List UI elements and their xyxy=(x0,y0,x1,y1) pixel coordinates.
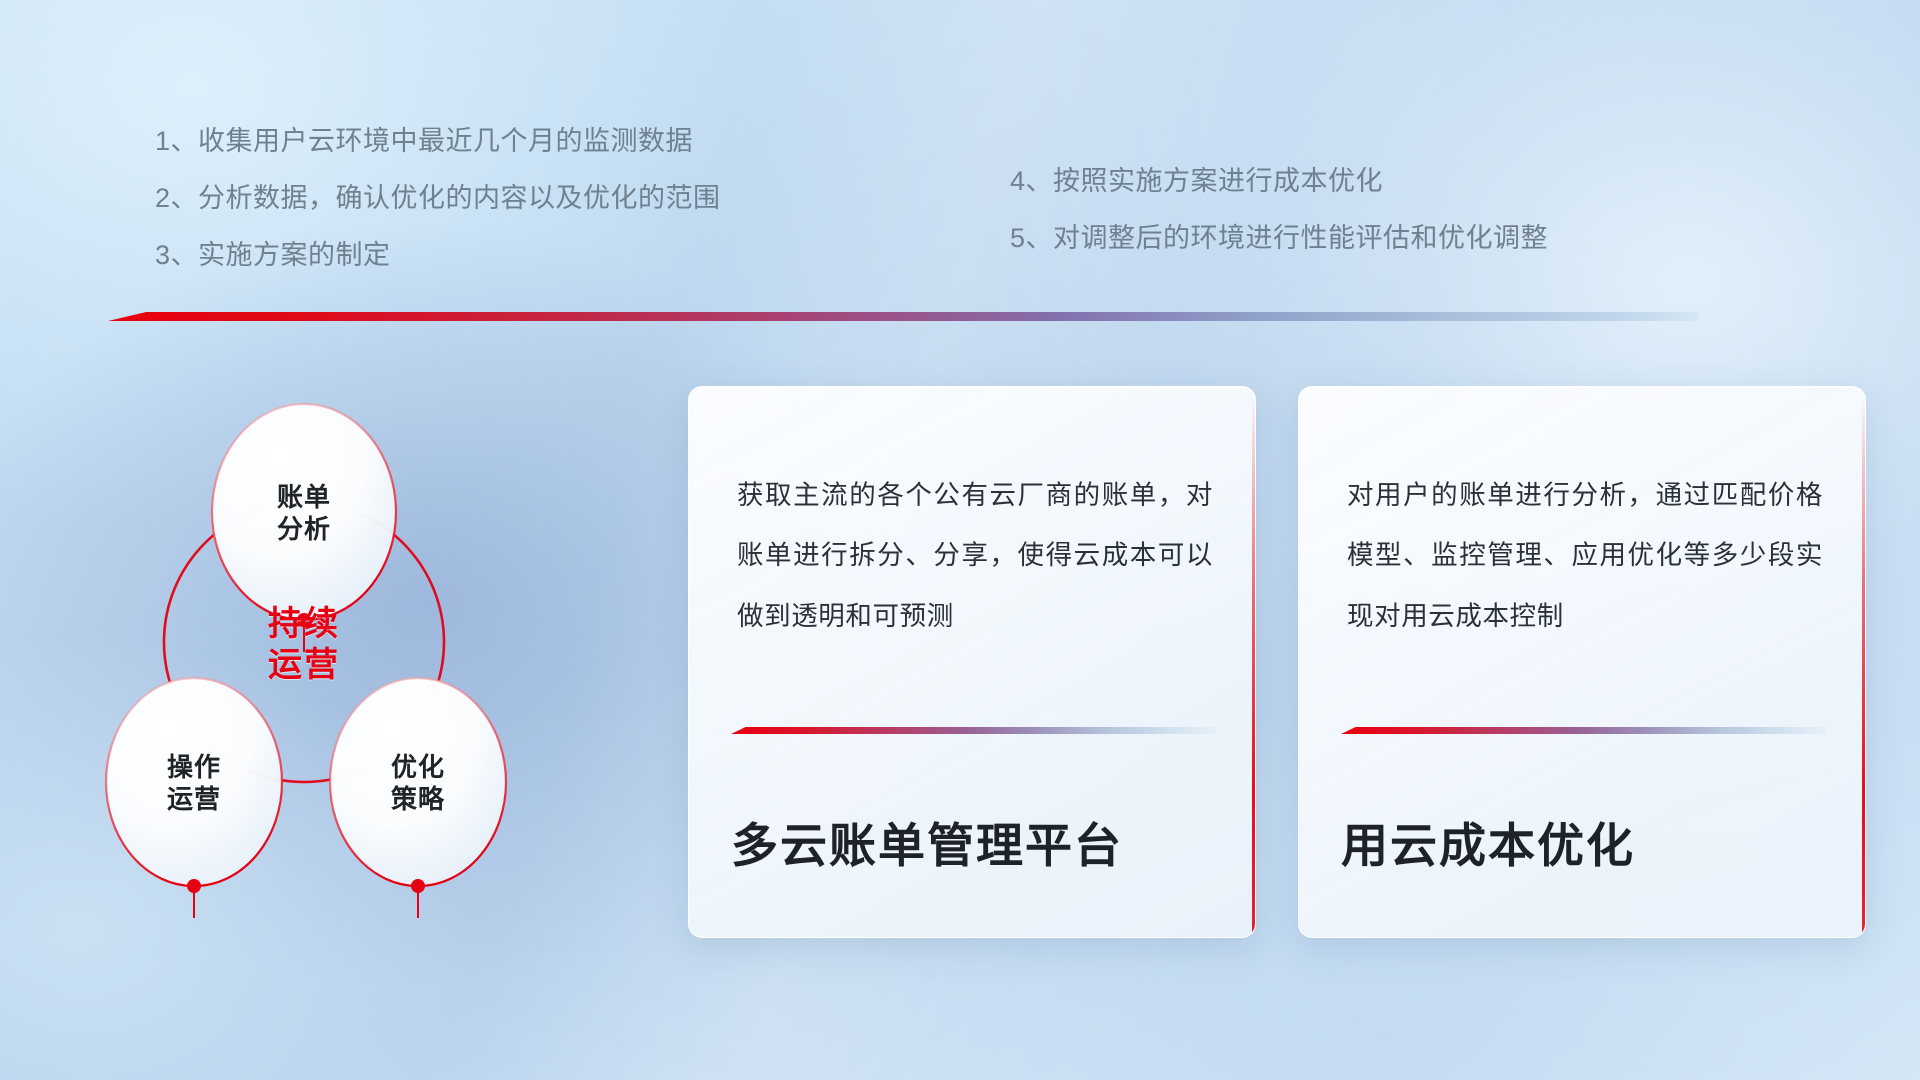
connector-dot-left xyxy=(187,879,201,893)
connector-dot-right xyxy=(411,879,425,893)
step-item-4: 4、按照实施方案进行成本优化 xyxy=(1010,168,1548,195)
step-item-3: 3、实施方案的制定 xyxy=(155,242,721,269)
step-item-2: 2、分析数据，确认优化的内容以及优化的范围 xyxy=(155,185,721,212)
steps-list-left: 1、收集用户云环境中最近几个月的监测数据 2、分析数据，确认优化的内容以及优化的… xyxy=(155,128,721,269)
venn-center-label: 持续 运营 xyxy=(234,604,374,686)
slide-canvas: 1、收集用户云环境中最近几个月的监测数据 2、分析数据，确认优化的内容以及优化的… xyxy=(0,0,1920,1080)
venn-label-optimization-line2: 策略 xyxy=(358,784,478,816)
venn-label-optimization-line1: 优化 xyxy=(358,752,478,784)
venn-label-operations: 操作 运营 xyxy=(134,752,254,815)
venn-label-billing-analysis-line1: 账单 xyxy=(244,482,364,514)
feature-card-rule xyxy=(731,727,1217,734)
feature-card-multi-cloud-billing[interactable]: 获取主流的各个公有云厂商的账单，对账单进行拆分、分享，使得云成本可以做到透明和可… xyxy=(688,386,1256,938)
feature-card-title: 用云成本优化 xyxy=(1341,807,1835,876)
section-divider xyxy=(108,312,1698,321)
feature-card-rule xyxy=(1341,727,1827,734)
venn-label-billing-analysis: 账单 分析 xyxy=(244,482,364,545)
continuous-operations-diagram: 账单 分析 操作 运营 优化 策略 持续 运营 xyxy=(96,352,656,952)
venn-center-label-line1: 持续 xyxy=(234,604,374,645)
venn-center-label-line2: 运营 xyxy=(234,645,374,686)
feature-card-body: 对用户的账单进行分析，通过匹配价格模型、监控管理、应用优化等多少段实现对用云成本… xyxy=(1347,465,1823,646)
venn-label-billing-analysis-line2: 分析 xyxy=(244,514,364,546)
steps-list-right: 4、按照实施方案进行成本优化 5、对调整后的环境进行性能评估和优化调整 xyxy=(1010,168,1548,252)
feature-card-title: 多云账单管理平台 xyxy=(731,807,1225,876)
venn-label-operations-line2: 运营 xyxy=(134,784,254,816)
venn-label-operations-line1: 操作 xyxy=(134,752,254,784)
venn-label-optimization: 优化 策略 xyxy=(358,752,478,815)
venn-svg xyxy=(96,352,656,952)
feature-card-body: 获取主流的各个公有云厂商的账单，对账单进行拆分、分享，使得云成本可以做到透明和可… xyxy=(737,465,1213,646)
step-item-1: 1、收集用户云环境中最近几个月的监测数据 xyxy=(155,128,721,155)
feature-card-cloud-cost-optimization[interactable]: 对用户的账单进行分析，通过匹配价格模型、监控管理、应用优化等多少段实现对用云成本… xyxy=(1298,386,1866,938)
step-item-5: 5、对调整后的环境进行性能评估和优化调整 xyxy=(1010,225,1548,252)
section-divider-bar xyxy=(108,312,1698,321)
